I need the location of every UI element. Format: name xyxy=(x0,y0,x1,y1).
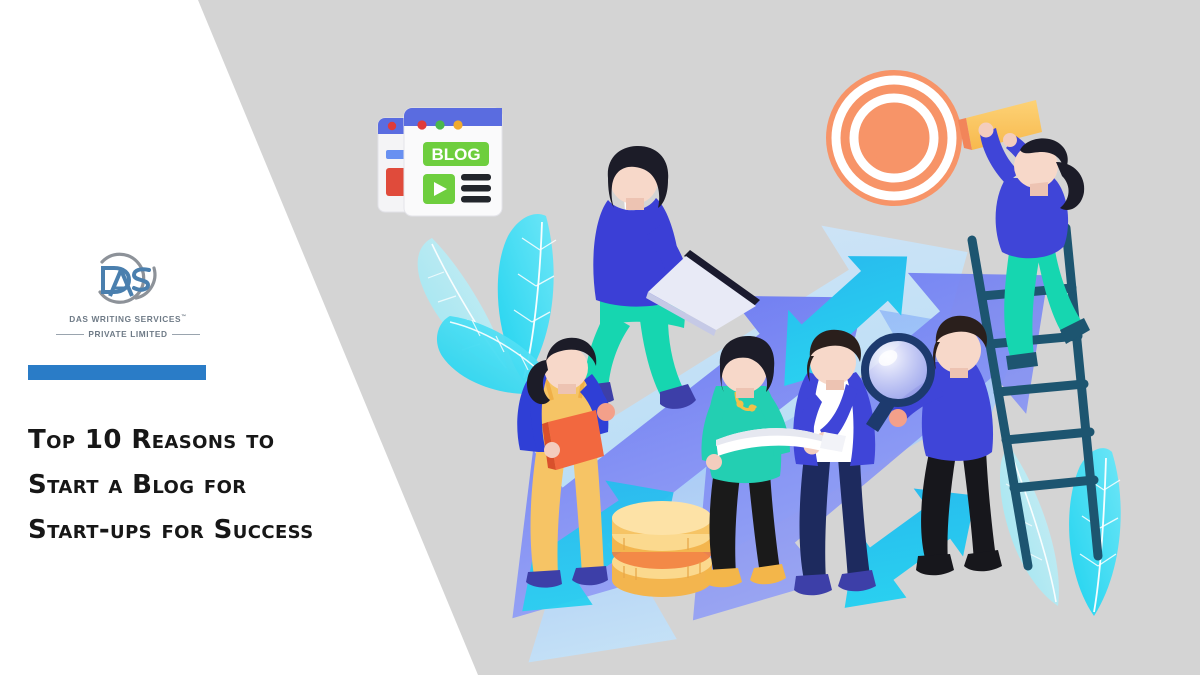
poster-canvas: BLOG xyxy=(0,0,1200,675)
window-dot-red xyxy=(417,120,426,129)
window-dot-amber xyxy=(453,120,462,129)
coin-stack xyxy=(612,501,712,597)
headline-line-3: Start-ups for Success xyxy=(28,508,388,553)
page-title: Top 10 Reasons to Start a Blog for Start… xyxy=(28,418,388,553)
blog-window[interactable]: BLOG xyxy=(378,108,502,216)
headline-line-2: Start a Blog for xyxy=(28,463,388,508)
bullseye-target xyxy=(826,70,962,206)
logo-trademark: ™ xyxy=(181,314,187,320)
blog-badge-label: BLOG xyxy=(431,145,480,164)
das-writing-services-logo[interactable]: DAS WRITING SERVICES™ PRIVATE LIMITED xyxy=(38,248,218,342)
logo-wordmark: DAS WRITING SERVICES™ xyxy=(38,314,218,324)
window-dot-red-back xyxy=(388,122,396,130)
accent-bar xyxy=(28,365,206,380)
logo-subline: PRIVATE LIMITED xyxy=(84,329,171,339)
headline-line-1: Top 10 Reasons to xyxy=(28,418,388,463)
window-dot-green xyxy=(435,120,444,129)
logo-mark xyxy=(78,248,178,310)
logo-wordmark-text: DAS WRITING SERVICES xyxy=(69,314,181,324)
